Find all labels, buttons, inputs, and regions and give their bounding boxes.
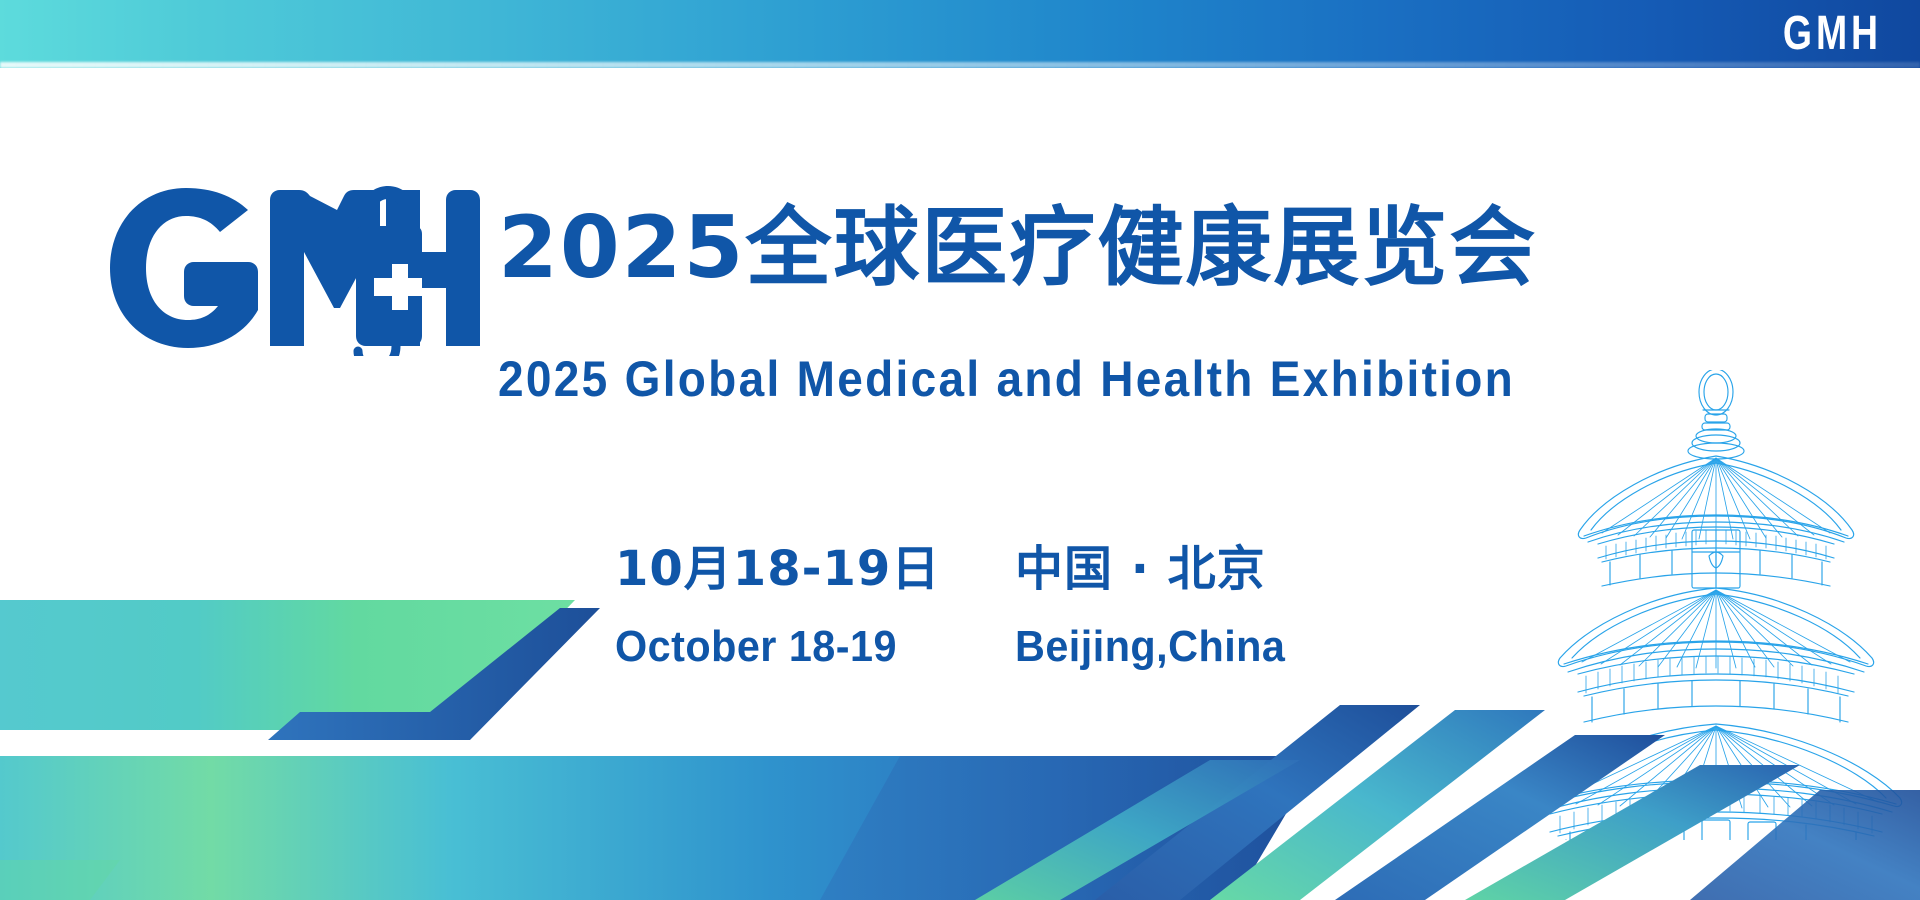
event-date-chinese: 10月18-19日 — [615, 540, 1015, 598]
top-banner-bar: GMH — [0, 0, 1920, 68]
event-info-block: 10月18-19日 中国 · 北京 October 18-19 Beijing,… — [615, 540, 1375, 674]
temple-of-heaven-icon — [1506, 370, 1920, 840]
title-chinese: 2025全球医疗健康展览会 — [498, 196, 1537, 300]
poster-root: GMH 2025全球医疗健康展览会 2025 Global Medical — [0, 0, 1920, 900]
top-bar-glow — [0, 62, 1920, 68]
top-bar-brand-text: GMH — [1783, 2, 1882, 66]
event-place-chinese: 中国 · 北京 — [1015, 540, 1375, 598]
info-row-english: October 18-19 Beijing,China — [615, 620, 1375, 674]
gmh-logo-mark — [108, 186, 508, 356]
info-row-chinese: 10月18-19日 中国 · 北京 — [615, 540, 1375, 598]
event-date-english: October 18-19 — [615, 620, 991, 674]
event-place-english: Beijing,China — [1015, 620, 1353, 674]
title-english: 2025 Global Medical and Health Exhibitio… — [498, 350, 1515, 408]
